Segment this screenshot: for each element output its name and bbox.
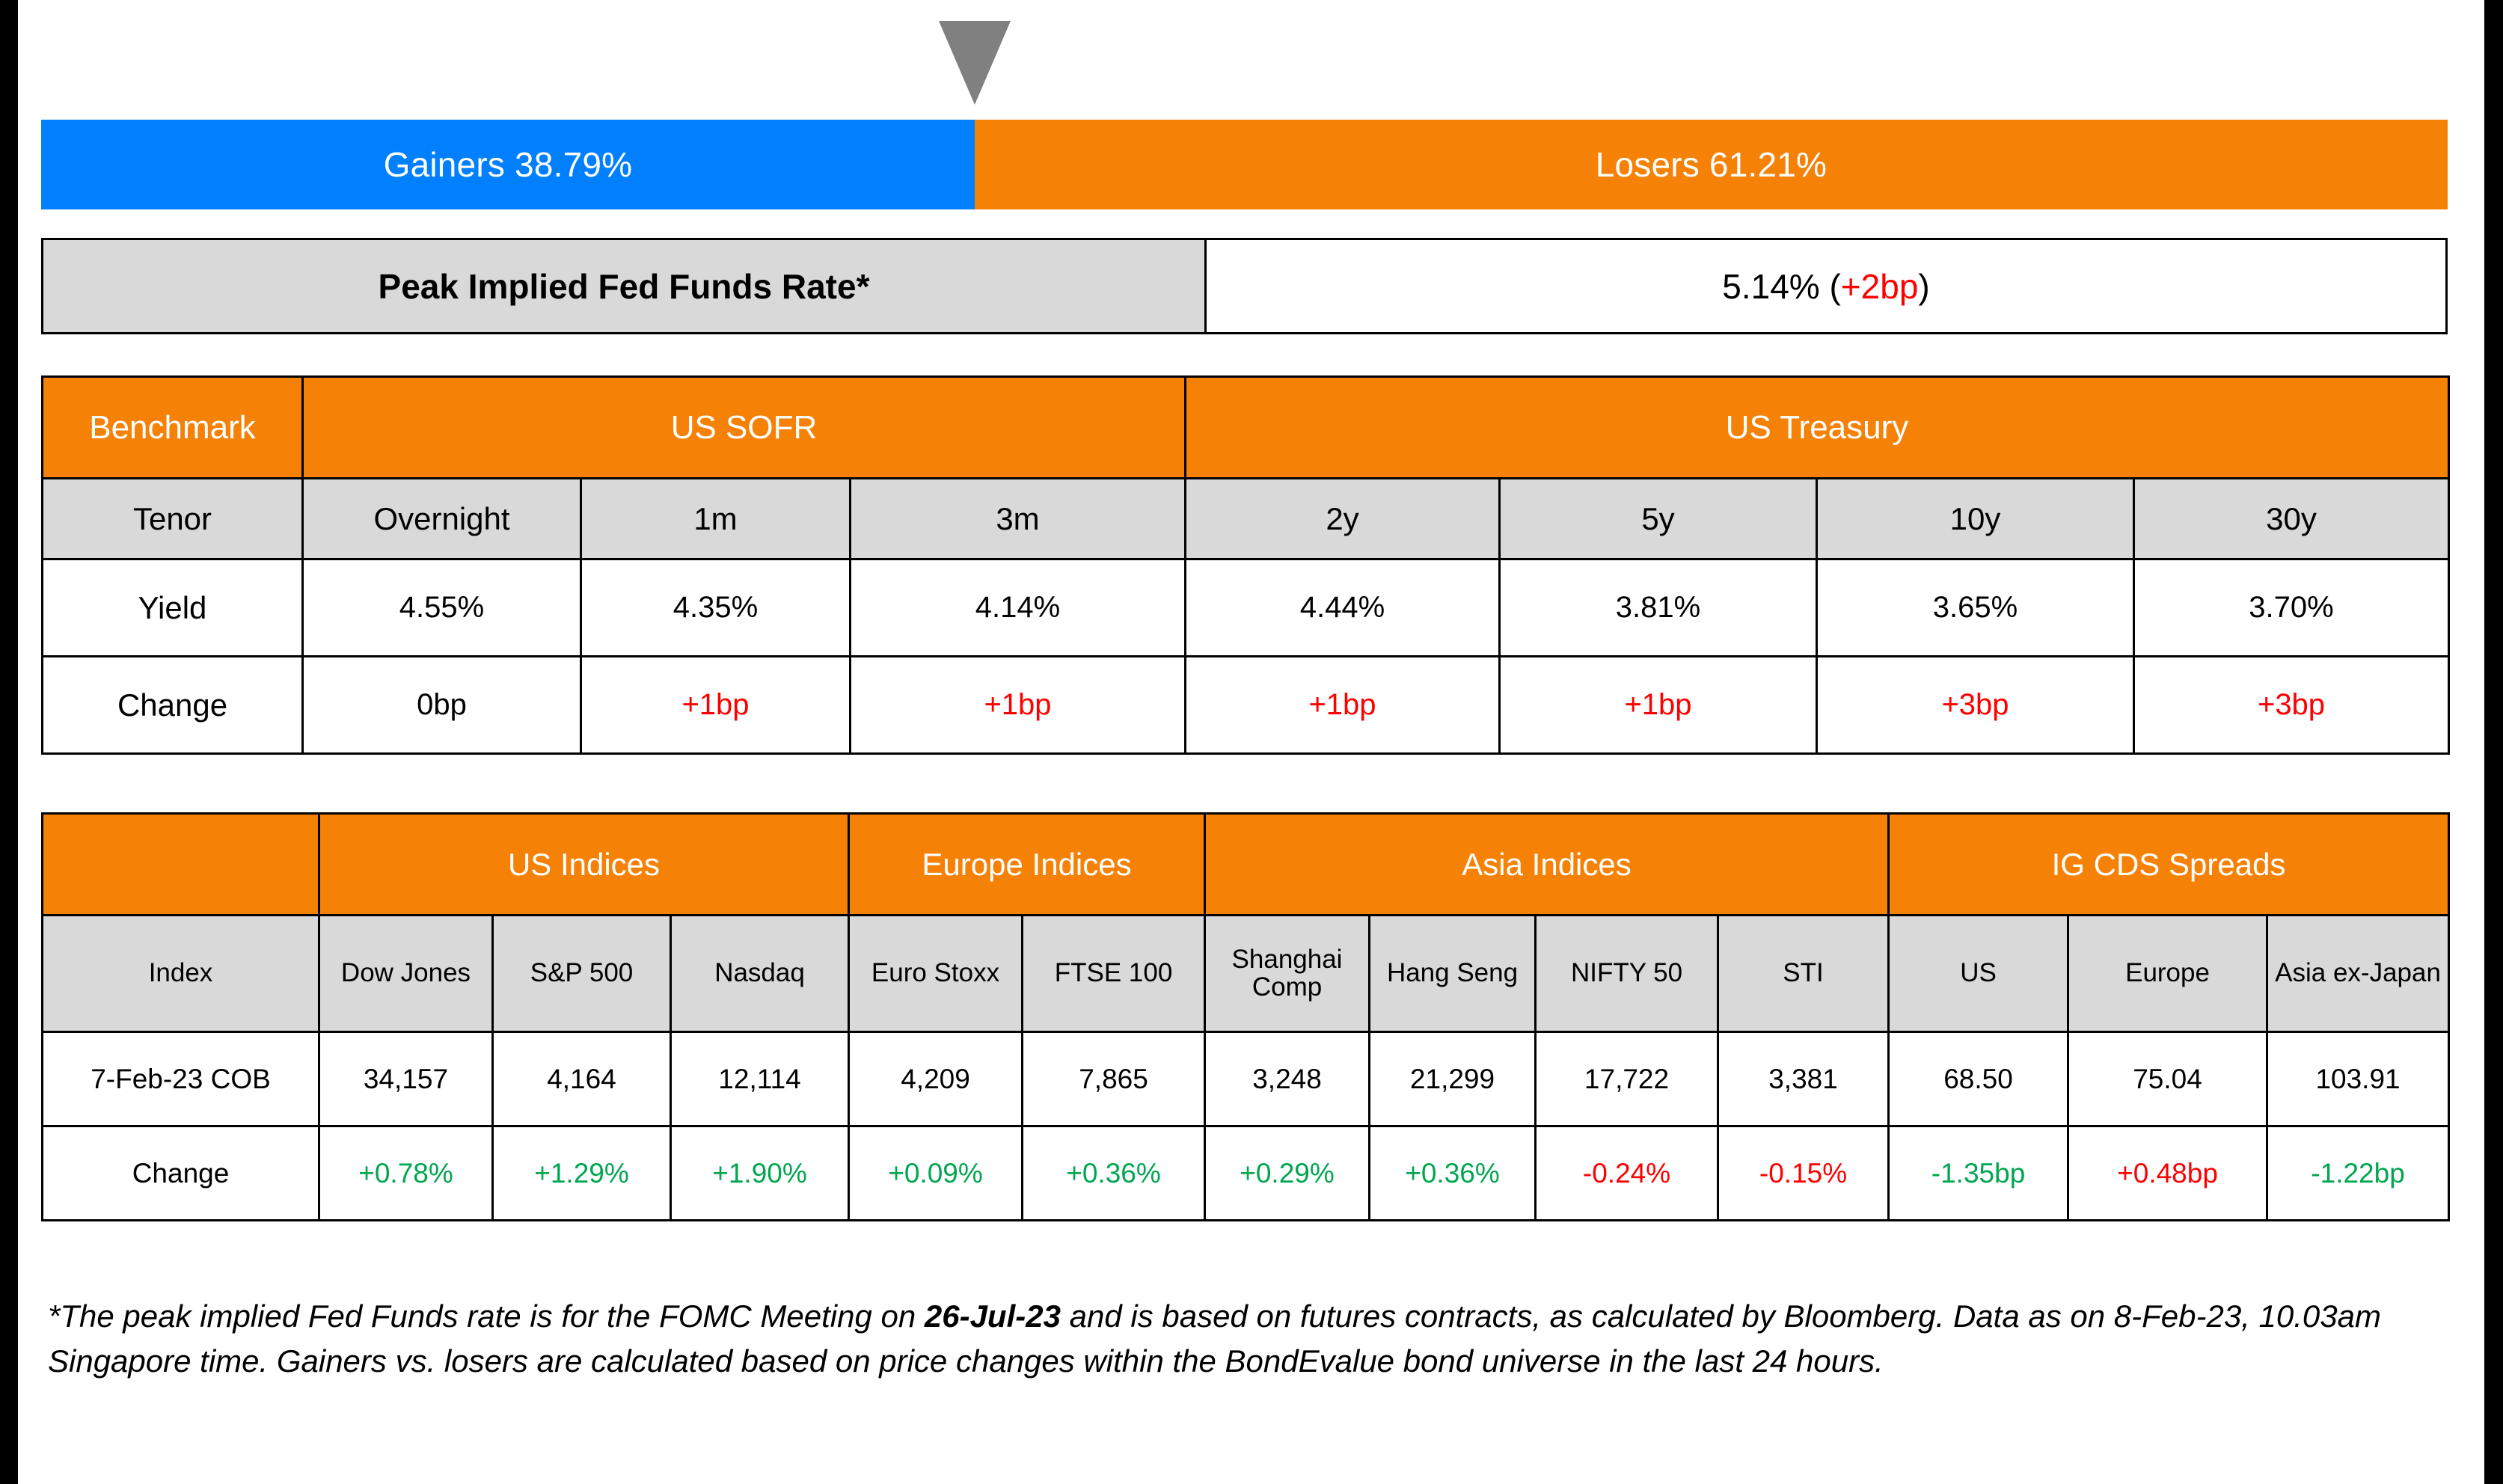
group-header-asia-indices: Asia Indices <box>1205 814 1889 916</box>
value-nifty-50: 17,722 <box>1536 1032 1718 1126</box>
change-overnight: 0bp <box>303 657 581 754</box>
group-header-us-treasury: US Treasury <box>1186 377 2449 479</box>
value-cds-europe: 75.04 <box>2068 1032 2267 1126</box>
column-header-euro-stoxx: Euro Stoxx <box>849 916 1023 1032</box>
yield-overnight: 4.55% <box>303 559 581 657</box>
column-header-cds-asia-ex-japan: Asia ex-Japan <box>2267 916 2449 1032</box>
fed-funds-rate: 5.14% <box>1722 267 1819 306</box>
footnote: *The peak implied Fed Funds rate is for … <box>48 1294 2427 1383</box>
group-header-europe-indices: Europe Indices <box>849 814 1205 916</box>
row-label-change: Change <box>43 657 303 754</box>
benchmark-rates-table: Benchmark US SOFR US Treasury Tenor Over… <box>41 375 2450 755</box>
column-header-cds-us: US <box>1889 916 2068 1032</box>
gainers-segment[interactable]: Gainers 38.79% <box>41 120 975 209</box>
change-1m: +1bp <box>581 657 851 754</box>
value-dow-jones: 34,157 <box>319 1032 493 1126</box>
change-hang-seng: +0.36% <box>1370 1126 1536 1221</box>
change-sti: -0.15% <box>1718 1126 1889 1221</box>
column-header-dow-jones: Dow Jones <box>319 916 493 1032</box>
column-header-10y: 10y <box>1817 479 2134 559</box>
table-row-group-header: US Indices Europe Indices Asia Indices I… <box>43 814 2449 916</box>
change-10y: +3bp <box>1817 657 2134 754</box>
gainers-losers-bar: Gainers 38.79% Losers 61.21% <box>41 120 2448 209</box>
change-2y: +1bp <box>1186 657 1500 754</box>
fed-funds-close-paren: ) <box>1918 267 1929 306</box>
losers-label: Losers 61.21% <box>1596 144 1827 185</box>
column-header-sti: STI <box>1718 916 1889 1032</box>
change-dow-jones: +0.78% <box>319 1126 493 1221</box>
footnote-fomc-date: 26-Jul-23 <box>925 1298 1061 1334</box>
table-row-group-header: Benchmark US SOFR US Treasury <box>43 377 2449 479</box>
indices-cds-table: US Indices Europe Indices Asia Indices I… <box>41 812 2450 1221</box>
yield-30y: 3.70% <box>2134 559 2449 657</box>
split-marker-triangle-icon <box>939 21 1011 105</box>
fed-funds-open-paren: ( <box>1820 267 1841 306</box>
row-label-cob-date: 7-Feb-23 COB <box>43 1032 319 1126</box>
yield-1m: 4.35% <box>581 559 851 657</box>
yield-3m: 4.14% <box>851 559 1186 657</box>
change-cds-europe: +0.48bp <box>2068 1126 2267 1221</box>
change-euro-stoxx: +0.09% <box>849 1126 1023 1221</box>
column-header-nasdaq: Nasdaq <box>671 916 849 1032</box>
column-header-overnight: Overnight <box>303 479 581 559</box>
footnote-part-1: *The peak implied Fed Funds rate is for … <box>48 1298 925 1334</box>
column-header-2y: 2y <box>1186 479 1500 559</box>
column-header-nifty-50: NIFTY 50 <box>1536 916 1718 1032</box>
column-header-ftse-100: FTSE 100 <box>1023 916 1205 1032</box>
dashboard-inner: Gainers 38.79% Losers 61.21% Peak Implie… <box>18 0 2484 1484</box>
value-shanghai-comp: 3,248 <box>1205 1032 1370 1126</box>
column-header-5y: 5y <box>1500 479 1817 559</box>
table-row-change: Change 0bp +1bp +1bp +1bp +1bp +3bp +3bp <box>43 657 2449 754</box>
column-header-hang-seng: Hang Seng <box>1370 916 1536 1032</box>
value-cds-us: 68.50 <box>1889 1032 2068 1126</box>
gainers-label: Gainers 38.79% <box>384 144 633 185</box>
group-header-ig-cds-spreads: IG CDS Spreads <box>1889 814 2449 916</box>
row-header-tenor: Tenor <box>43 479 303 559</box>
change-5y: +1bp <box>1500 657 1817 754</box>
fed-funds-table: Peak Implied Fed Funds Rate* 5.14% (+2bp… <box>41 238 2448 334</box>
yield-2y: 4.44% <box>1186 559 1500 657</box>
benchmark-corner-header: Benchmark <box>43 377 303 479</box>
table-row-values: 7-Feb-23 COB 34,157 4,164 12,114 4,209 7… <box>43 1032 2449 1126</box>
indices-corner-header <box>43 814 319 916</box>
row-label-change: Change <box>43 1126 319 1221</box>
value-nasdaq: 12,114 <box>671 1032 849 1126</box>
fed-funds-label: Peak Implied Fed Funds Rate* <box>43 239 1206 334</box>
column-header-cds-europe: Europe <box>2068 916 2267 1032</box>
row-header-index: Index <box>43 916 319 1032</box>
change-cds-us: -1.35bp <box>1889 1126 2068 1221</box>
column-header-1m: 1m <box>581 479 851 559</box>
group-header-us-sofr: US SOFR <box>303 377 1186 479</box>
value-ftse-100: 7,865 <box>1023 1032 1205 1126</box>
change-cds-asia-ex-japan: -1.22bp <box>2267 1126 2449 1221</box>
group-header-us-indices: US Indices <box>319 814 849 916</box>
yield-5y: 3.81% <box>1500 559 1817 657</box>
change-sp-500: +1.29% <box>493 1126 671 1221</box>
column-header-sp-500: S&P 500 <box>493 916 671 1032</box>
yield-10y: 3.65% <box>1817 559 2134 657</box>
change-shanghai-comp: +0.29% <box>1205 1126 1370 1221</box>
table-row-yield: Yield 4.55% 4.35% 4.14% 4.44% 3.81% 3.65… <box>43 559 2449 657</box>
value-hang-seng: 21,299 <box>1370 1032 1536 1126</box>
row-label-yield: Yield <box>43 559 303 657</box>
change-ftse-100: +0.36% <box>1023 1126 1205 1221</box>
losers-segment[interactable]: Losers 61.21% <box>975 120 2448 209</box>
table-row: Peak Implied Fed Funds Rate* 5.14% (+2bp… <box>43 239 2447 334</box>
table-row-column-header: Index Dow Jones S&P 500 Nasdaq Euro Stox… <box>43 916 2449 1032</box>
change-3m: +1bp <box>851 657 1186 754</box>
change-nasdaq: +1.90% <box>671 1126 849 1221</box>
value-euro-stoxx: 4,209 <box>849 1032 1023 1126</box>
column-header-shanghai-comp: Shanghai Comp <box>1205 916 1370 1032</box>
dashboard-page: Gainers 38.79% Losers 61.21% Peak Implie… <box>0 0 2503 1484</box>
change-nifty-50: -0.24% <box>1536 1126 1718 1221</box>
fed-funds-value: 5.14% (+2bp) <box>1206 239 2447 334</box>
table-row-column-header: Tenor Overnight 1m 3m 2y 5y 10y 30y <box>43 479 2449 559</box>
fed-funds-change: +2bp <box>1841 267 1919 306</box>
table-row-change: Change +0.78% +1.29% +1.90% +0.09% +0.36… <box>43 1126 2449 1221</box>
change-30y: +3bp <box>2134 657 2449 754</box>
value-cds-asia-ex-japan: 103.91 <box>2267 1032 2449 1126</box>
column-header-3m: 3m <box>851 479 1186 559</box>
value-sp-500: 4,164 <box>493 1032 671 1126</box>
column-header-30y: 30y <box>2134 479 2449 559</box>
value-sti: 3,381 <box>1718 1032 1889 1126</box>
